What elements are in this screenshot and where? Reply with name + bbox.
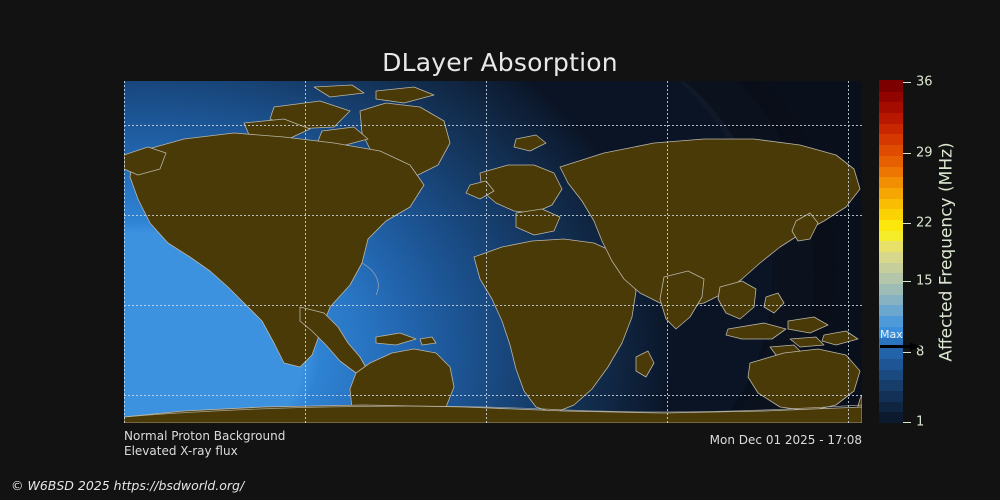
colorbar-band bbox=[879, 369, 903, 380]
note-xray-flux: Elevated X-ray flux bbox=[124, 444, 285, 459]
colorbar-band bbox=[879, 294, 903, 305]
colorbar-tick-mark bbox=[903, 153, 911, 154]
colorbar-band bbox=[879, 177, 903, 188]
copyright-notice: © W6BSD 2025 https://bsdworld.org/ bbox=[11, 478, 244, 493]
colorbar-band bbox=[879, 401, 903, 412]
status-notes: Normal Proton Background Elevated X-ray … bbox=[124, 429, 285, 459]
colorbar-max-marker: Max bbox=[879, 330, 925, 354]
colorbar-axis-title: Affected Frequency (MHz) bbox=[935, 81, 959, 423]
colorbar-band bbox=[879, 134, 903, 145]
colorbar-band bbox=[879, 251, 903, 262]
colorbar-band bbox=[879, 316, 903, 327]
colorbar bbox=[879, 81, 903, 423]
max-marker-label: Max bbox=[880, 329, 903, 341]
colorbar-band bbox=[879, 273, 903, 284]
colorbar-band bbox=[879, 262, 903, 273]
note-proton-background: Normal Proton Background bbox=[124, 429, 285, 444]
colorbar-band bbox=[879, 390, 903, 401]
colorbar-tick-label: 15 bbox=[916, 275, 933, 288]
colorbar-band bbox=[879, 380, 903, 391]
colorbar-band bbox=[879, 145, 903, 156]
colorbar-band bbox=[879, 166, 903, 177]
colorbar-gradient bbox=[879, 81, 903, 423]
dlayer-absorption-figure: DLayer Absorption bbox=[0, 0, 1000, 500]
page-title: DLayer Absorption bbox=[0, 48, 1000, 77]
map-canvas bbox=[124, 81, 862, 423]
colorbar-band bbox=[879, 123, 903, 134]
colorbar-band bbox=[879, 198, 903, 209]
colorbar-tick-label: 29 bbox=[916, 146, 933, 159]
colorbar-band bbox=[879, 358, 903, 369]
world-map-plot bbox=[124, 81, 862, 423]
colorbar-band bbox=[879, 283, 903, 294]
colorbar-tick-label: 1 bbox=[916, 416, 924, 429]
colorbar-band bbox=[879, 80, 903, 91]
colorbar-tick-mark bbox=[903, 281, 911, 282]
colorbar-band bbox=[879, 241, 903, 252]
colorbar-axis-title-text: Affected Frequency (MHz) bbox=[937, 142, 957, 361]
colorbar-band bbox=[879, 209, 903, 220]
colorbar-tick-mark bbox=[903, 82, 911, 83]
colorbar-tick-label: 22 bbox=[916, 217, 933, 230]
colorbar-band bbox=[879, 155, 903, 166]
colorbar-band bbox=[879, 305, 903, 316]
colorbar-band bbox=[879, 112, 903, 123]
colorbar-tick-label: 36 bbox=[916, 76, 933, 89]
timestamp: Mon Dec 01 2025 - 17:08 bbox=[710, 433, 862, 447]
colorbar-band bbox=[879, 187, 903, 198]
colorbar-tick-mark bbox=[903, 223, 911, 224]
colorbar-band bbox=[879, 102, 903, 113]
colorbar-band bbox=[879, 230, 903, 241]
max-arrow-icon bbox=[880, 342, 922, 351]
colorbar-band bbox=[879, 91, 903, 102]
colorbar-tick-mark bbox=[903, 422, 911, 423]
colorbar-band bbox=[879, 219, 903, 230]
colorbar-band bbox=[879, 412, 903, 423]
